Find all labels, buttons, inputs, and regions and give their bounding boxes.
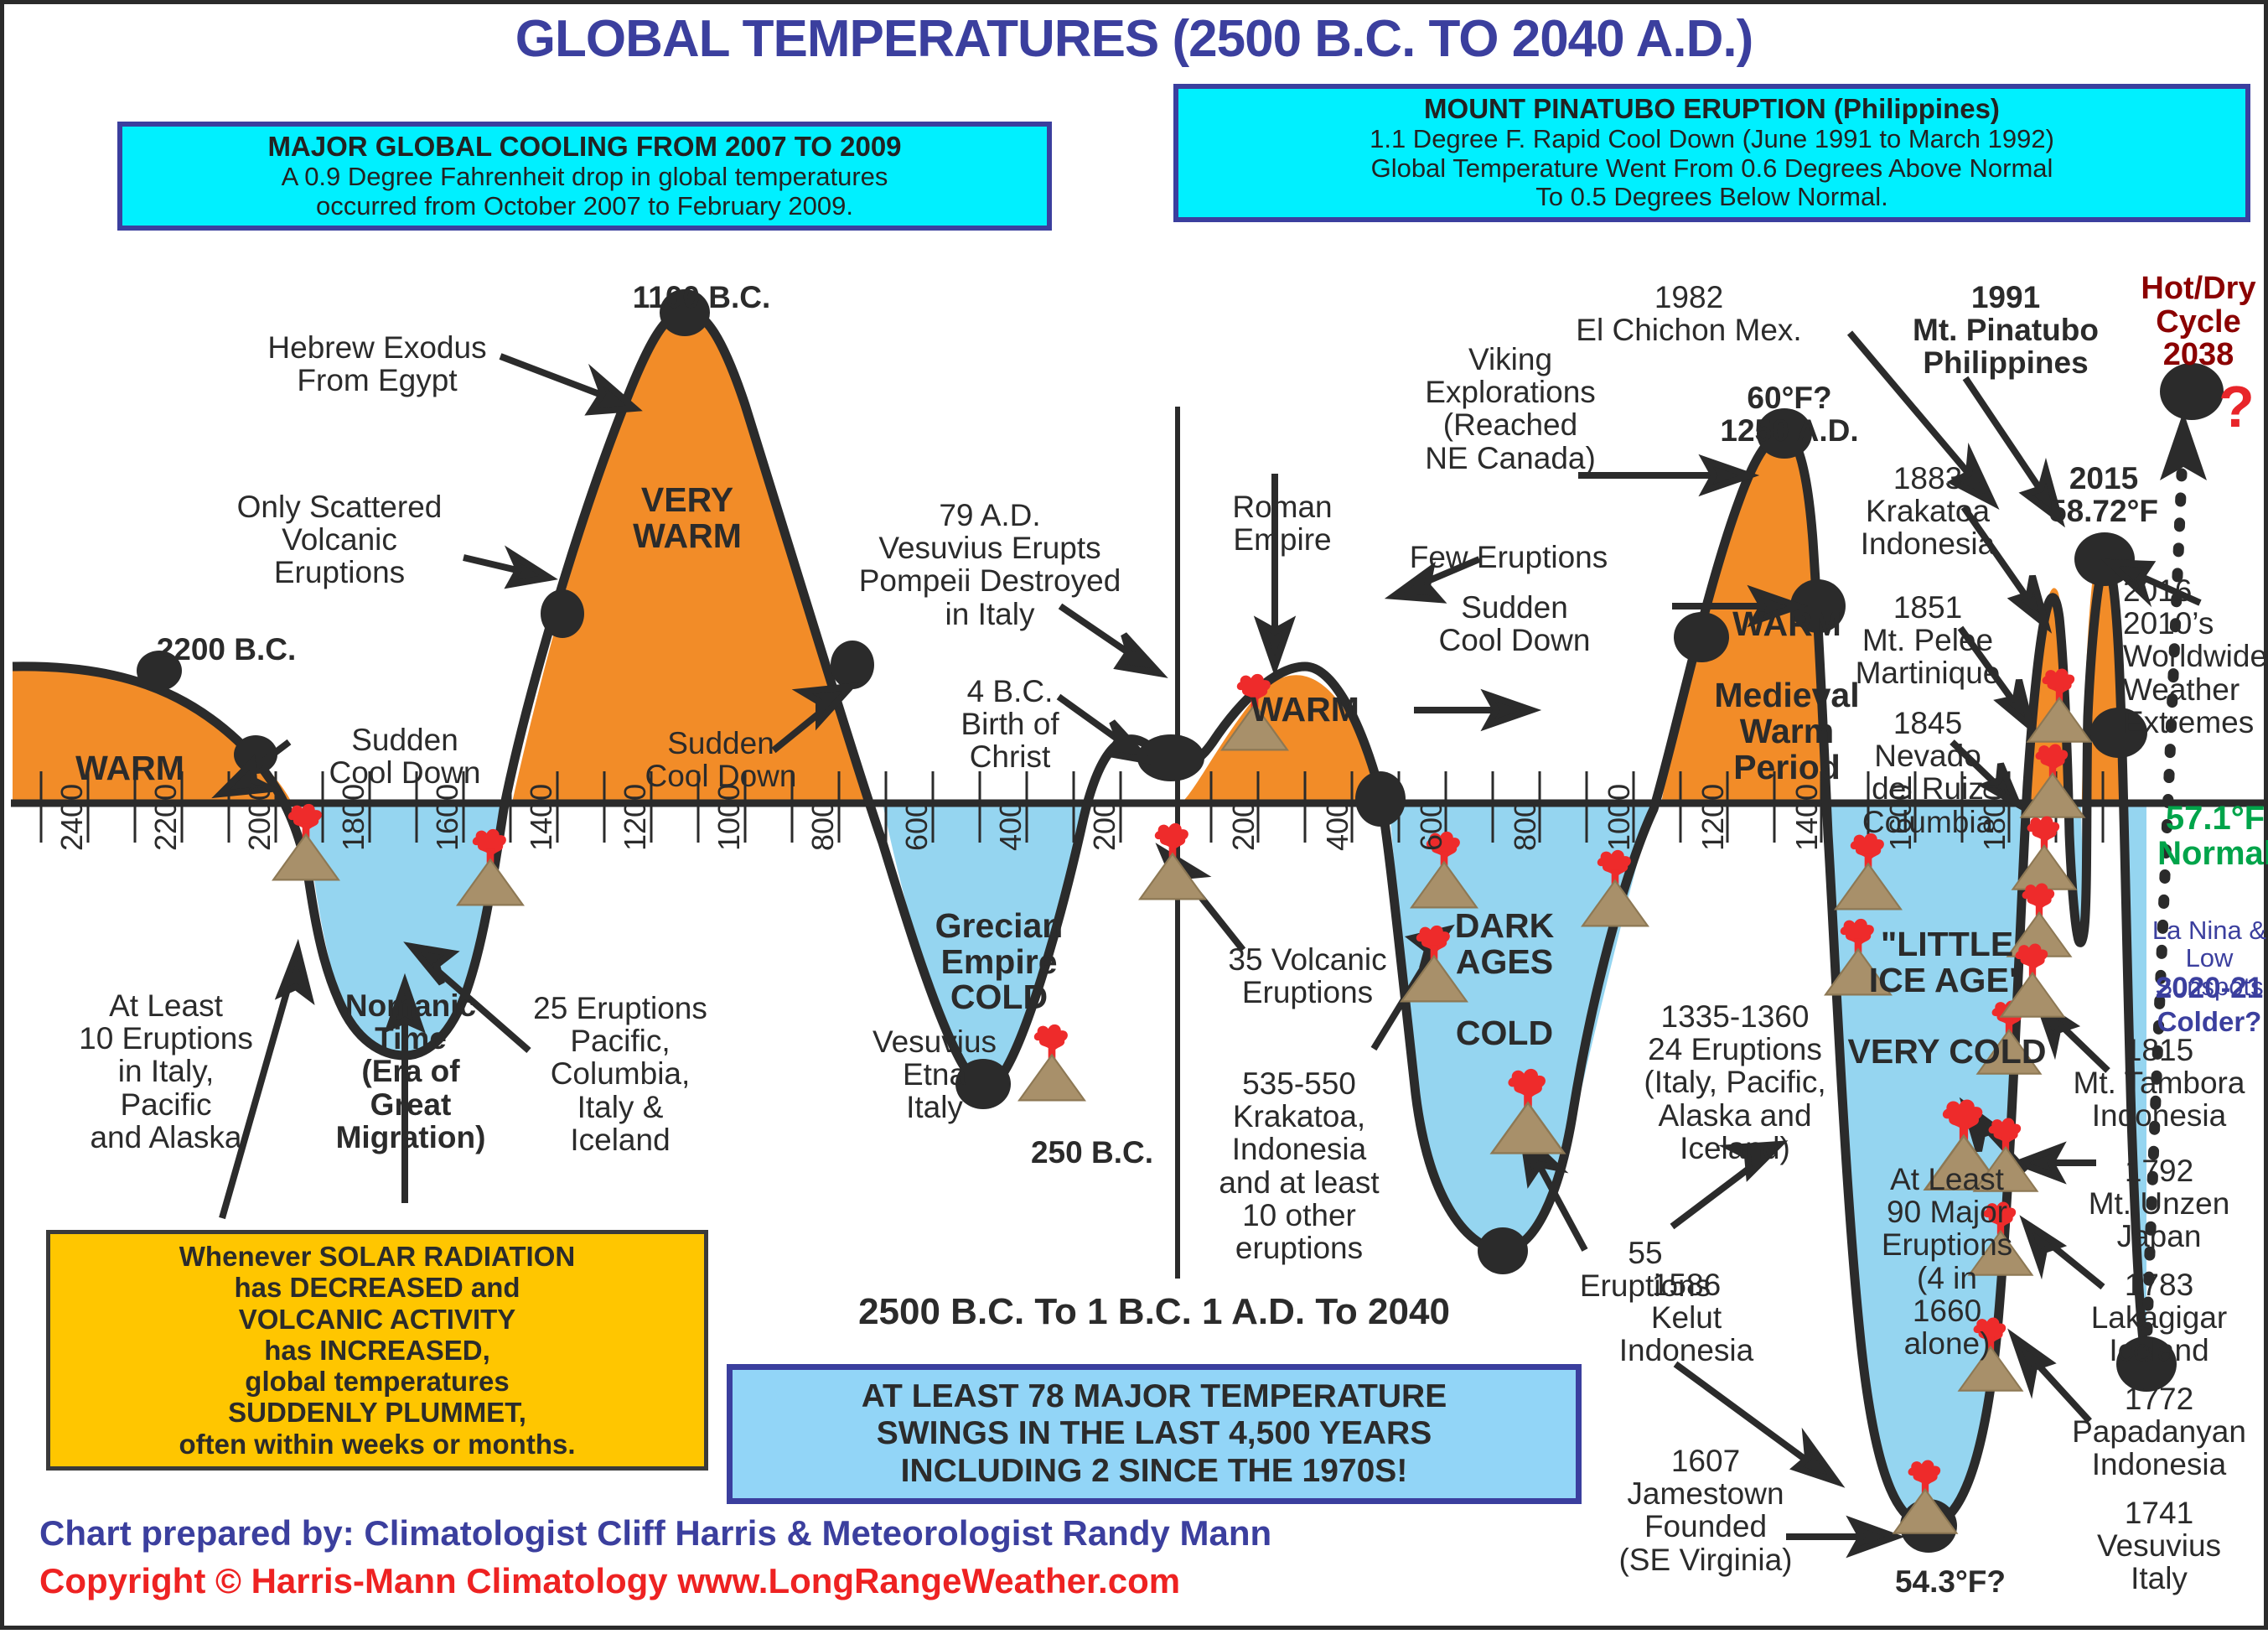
band-label-grecian: Grecian Empire COLD <box>903 908 1095 1015</box>
axis-tick-200ad: 200 <box>1226 801 1261 851</box>
solar-line-1: Whenever SOLAR RADIATION <box>59 1241 696 1272</box>
era-range-labels: 2500 B.C. To 1 B.C. 1 A.D. To 2040 <box>727 1291 1582 1333</box>
annotation-viking-explorations: Viking Explorations (Reached NE Canada) <box>1406 343 1615 475</box>
band-label-dark-ages: DARK AGES COLD <box>1421 908 1588 1051</box>
dot-sudden-cool-roman <box>1355 771 1406 827</box>
chart-credit: Chart prepared by: Climatologist Cliff H… <box>39 1513 1271 1554</box>
annotation-90-major-eruptions: At Least 90 Major Eruptions (4 in 1660 a… <box>1846 1163 2048 1360</box>
annotation-sudden-cool-1: Sudden Cool Down <box>296 724 514 789</box>
axis-tick-1600bc: 1600 <box>430 784 465 851</box>
annotation-1100bc-peak: 1100 B.C. <box>601 281 802 314</box>
axis-tick-1400bc: 1400 <box>524 784 559 851</box>
dot-scattered-volcanic <box>541 589 584 638</box>
axis-tick-1000ad: 1000 <box>1602 784 1637 851</box>
annotation-tambora-1815: 1815 Mt. Tambora Indonesia <box>2049 1034 2268 1133</box>
annotation-few-eruptions: Few Eruptions <box>1379 541 1639 573</box>
annotation-at-least-10-eruptions: At Least 10 Eruptions in Italy, Pacific … <box>36 989 296 1154</box>
axis-tick-2400bc: 2400 <box>54 784 90 851</box>
axis-tick-1400ad: 1400 <box>1789 784 1825 851</box>
axis-tick-400ad: 400 <box>1320 801 1355 851</box>
axis-tick-800bc: 800 <box>805 801 841 851</box>
annotation-1250ad-peak: 60°F? 1250 A.D. <box>1680 381 1898 447</box>
annotation-543f-min: 54.3°F? <box>1858 1565 2043 1598</box>
band-label-warm-1: WARM <box>38 750 222 786</box>
annotation-sudden-cool-2: Sudden Cool Down <box>608 727 834 792</box>
solar-radiation-note-box: Whenever SOLAR RADIATION has DECREASED a… <box>46 1230 708 1471</box>
annotation-jamestown-1607: 1607 Jamestown Founded (SE Virginia) <box>1597 1445 1815 1576</box>
solar-line-6: SUDDENLY PLUMMET, <box>59 1397 696 1428</box>
annotation-vesuvius-etna-italy: Vesuvius Etna Italy <box>842 1025 1027 1124</box>
dot-79ad <box>831 641 874 689</box>
axis-tick-1200bc: 1200 <box>618 784 653 851</box>
swings-line-3: INCLUDING 2 SINCE THE 1970S! <box>738 1453 1571 1490</box>
annotation-lakagigar-1783: 1783 Lakagigar Iceland <box>2049 1268 2268 1367</box>
band-label-little-ice-age: "LITTLE ICE AGE" VERY COLD <box>1838 926 2056 1070</box>
axis-tick-1800bc: 1800 <box>336 784 371 851</box>
annotation-el-chichon-1982: 1982 El Chichon Mex. <box>1538 281 1840 346</box>
band-label-warm-roman: WARM <box>1221 692 1389 728</box>
annotation-roman-empire: Roman Empire <box>1199 490 1366 556</box>
swings-line-1: AT LEAST 78 MAJOR TEMPERATURE <box>738 1378 1571 1415</box>
solar-line-3: VOLCANIC ACTIVITY <box>59 1304 696 1335</box>
solar-line-7: often within weeks or months. <box>59 1429 696 1460</box>
axis-tick-200bc: 200 <box>1087 801 1122 851</box>
solar-line-5: global temperatures <box>59 1366 696 1397</box>
axis-tick-1200ad: 1200 <box>1696 784 1731 851</box>
axis-tick-600ad: 600 <box>1414 801 1449 851</box>
solar-line-4: has INCREASED, <box>59 1335 696 1366</box>
axis-tick-600bc: 600 <box>899 801 935 851</box>
annotation-unzen-1792: 1792 Mt. Unzen Japan <box>2049 1154 2268 1253</box>
annotation-35-volcanic-eruptions: 35 Volcanic Eruptions <box>1203 943 1412 1009</box>
swings-line-2: SWINGS IN THE LAST 4,500 YEARS <box>738 1415 1571 1452</box>
annotation-krakatoa-1883: 1883 Krakatoa Indonesia <box>1831 462 2024 561</box>
chart-copyright[interactable]: Copyright © Harris-Mann Climatology www.… <box>39 1561 1180 1601</box>
annotation-79ad-vesuvius: 79 A.D. Vesuvius Erupts Pompeii Destroye… <box>839 499 1141 630</box>
annotation-sudden-cool-3: Sudden Cool Down <box>1406 591 1623 656</box>
annotation-2200bc-peak: 2200 B.C. <box>113 633 339 666</box>
annotation-kelut-1586: 1586 Kelut Indonesia <box>1590 1268 1783 1367</box>
annotation-250bc-min: 250 B.C. <box>992 1136 1193 1169</box>
annotation-hebrew-exodus: Hebrew Exodus From Egypt <box>239 331 515 397</box>
annotation-2016-extremes: 2016 2010’s Worldwide Weather Extremes <box>2123 574 2268 739</box>
annotation-535-550-krakatoa: 535-550 Krakatoa, Indonesia and at least… <box>1194 1067 1404 1264</box>
annotation-hot-dry-2038: Hot/Dry Cycle 2038 <box>2123 272 2268 372</box>
annotation-1335-1360-eruptions: 1335-1360 24 Eruptions (Italy, Pacific, … <box>1622 1000 1848 1165</box>
annotation-papadanyan-1772: 1772 Papadanyan Indonesia <box>2049 1382 2268 1481</box>
band-label-very-warm: VERY WARM <box>591 482 784 553</box>
annotation-scattered-volcanic: Only Scattered Volcanic Eruptions <box>205 490 474 589</box>
axis-tick-2200bc: 2200 <box>148 784 184 851</box>
annotation-2015-peak: 2015 58.72°F <box>2007 462 2200 527</box>
axis-tick-400bc: 400 <box>993 801 1028 851</box>
annotation-pinatubo-1991: 1991 Mt. Pinatubo Philippines <box>1872 281 2140 380</box>
axis-tick-800ad: 800 <box>1508 801 1543 851</box>
annotation-la-nina-year: 2020-21 <box>2146 973 2268 1004</box>
chart-canvas: GLOBAL TEMPERATURES (2500 B.C. TO 2040 A… <box>0 0 2268 1630</box>
annotation-question-mark: ? <box>2219 373 2255 440</box>
annotation-25-eruptions: 25 Eruptions Pacific, Columbia, Italy & … <box>515 992 725 1156</box>
annotation-birth-of-christ: 4 B.C. Birth of Christ <box>926 675 1094 774</box>
annotation-nomadic-time: Nomanic Time (Era of Great Migration) <box>306 989 515 1154</box>
annotation-vesuvius-1741: 1741 Vesuvius Italy <box>2049 1497 2268 1595</box>
solar-line-2: has DECREASED and <box>59 1272 696 1303</box>
temperature-swings-box: AT LEAST 78 MAJOR TEMPERATURE SWINGS IN … <box>727 1364 1582 1504</box>
axis-tick-1000bc: 1000 <box>712 784 747 851</box>
volcano-icon-4bc <box>1140 823 1205 899</box>
axis-tick-2000bc: 2000 <box>242 784 277 851</box>
dot-dark-ages-min <box>1478 1227 1528 1274</box>
annotation-nevado-1845: 1845 Nevado del Ruiz Columbia <box>1831 707 2024 838</box>
annotation-pelee-1851: 1851 Mt. Pelee Martinique <box>1831 591 2024 690</box>
volcano-icon-250bc <box>1019 1024 1085 1100</box>
annotation-normal-57f: 57.1°F Normal <box>2157 801 2268 872</box>
